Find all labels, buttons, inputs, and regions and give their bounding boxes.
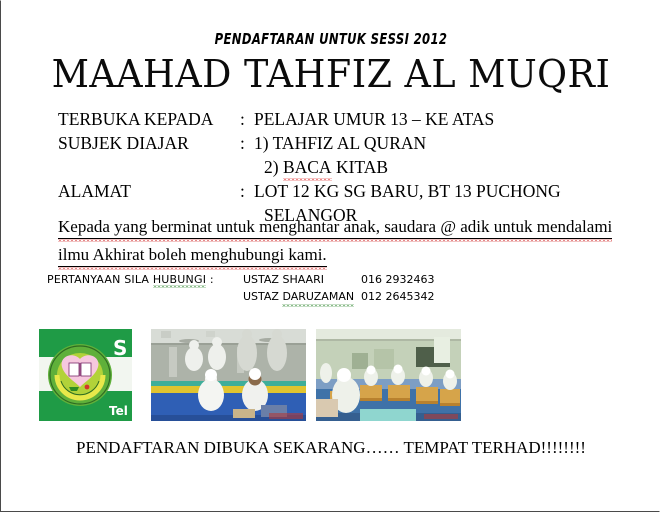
kicker-heading: PENDAFTARAN UNTUK SESSI 2012 (47, 30, 615, 48)
misspelled-word: DARUZAMAN (282, 288, 354, 305)
misspelled-word: HUBUNGI (153, 273, 206, 286)
detail-value: LOT 12 KG SG BARU, BT 13 PUCHONG (254, 179, 638, 203)
contact-phone: 012 2645342 (361, 288, 434, 305)
students-classroom-photo (316, 329, 461, 421)
contact-phone: 016 2932463 (361, 271, 434, 288)
paragraph-line: Kepada yang berminat untuk menghantar an… (58, 215, 612, 239)
page-title: MAAHAD TAHFIZ AL MUQRI (14, 53, 648, 95)
svg-text:S: S (113, 336, 127, 360)
footer-announcement: PENDAFTARAN DIBUKA SEKARANG…… TEMPAT TER… (1, 438, 660, 458)
detail-label: ALAMAT (58, 179, 240, 203)
flyer-page: PENDAFTARAN UNTUK SESSI 2012 MAAHAD TAHF… (0, 0, 660, 512)
details-list: TERBUKA KEPADA : PELAJAR UMUR 13 – KE AT… (58, 107, 638, 227)
detail-row: ALAMAT : LOT 12 KG SG BARU, BT 13 PUCHON… (58, 179, 638, 203)
detail-colon: : (240, 107, 254, 131)
detail-label: SUBJEK DIAJAR (58, 131, 240, 155)
detail-row: : 2) BACA KITAB (58, 155, 638, 179)
detail-colon: : (240, 179, 254, 203)
svg-text:Tel: Tel (109, 404, 128, 418)
contact-label-prefix: PERTANYAAN SILA (47, 273, 153, 286)
paragraph-line: ilmu Akhirat boleh menghubungi kami. (58, 243, 327, 267)
detail-row: TERBUKA KEPADA : PELAJAR UMUR 13 – KE AT… (58, 107, 638, 131)
contact-label: PERTANYAAN SILA HUBUNGI : (47, 273, 214, 286)
invitation-paragraph: Kepada yang berminat untuk menghantar an… (58, 215, 633, 271)
contact-person: USTAZ DARUZAMAN 012 2645342 (243, 288, 434, 305)
detail-value: 1) TAHFIZ AL QURAN (254, 131, 638, 155)
contact-name-prefix: USTAZ (243, 290, 282, 303)
detail-colon: : (240, 131, 254, 155)
detail-value-suffix: KITAB (332, 157, 388, 177)
contact-people-list: USTAZ SHAARI 016 2932463 USTAZ DARUZAMAN… (243, 271, 434, 305)
school-signboard-logo-image: S Tel (39, 329, 132, 421)
detail-value: 2) BACA KITAB (254, 155, 638, 179)
misspelled-word: BACA (283, 155, 332, 179)
detail-row: SUBJEK DIAJAR : 1) TAHFIZ AL QURAN (58, 131, 638, 155)
detail-label: TERBUKA KEPADA (58, 107, 240, 131)
contact-name: USTAZ SHAARI (243, 271, 361, 288)
detail-value-prefix: 2) (264, 157, 283, 177)
photo-strip: S Tel (39, 329, 469, 421)
contact-name: USTAZ DARUZAMAN (243, 288, 361, 305)
students-prayer-hall-photo (151, 329, 306, 421)
detail-value: PELAJAR UMUR 13 – KE ATAS (254, 107, 638, 131)
contact-label-suffix: : (206, 273, 214, 286)
contact-person: USTAZ SHAARI 016 2932463 (243, 271, 434, 288)
